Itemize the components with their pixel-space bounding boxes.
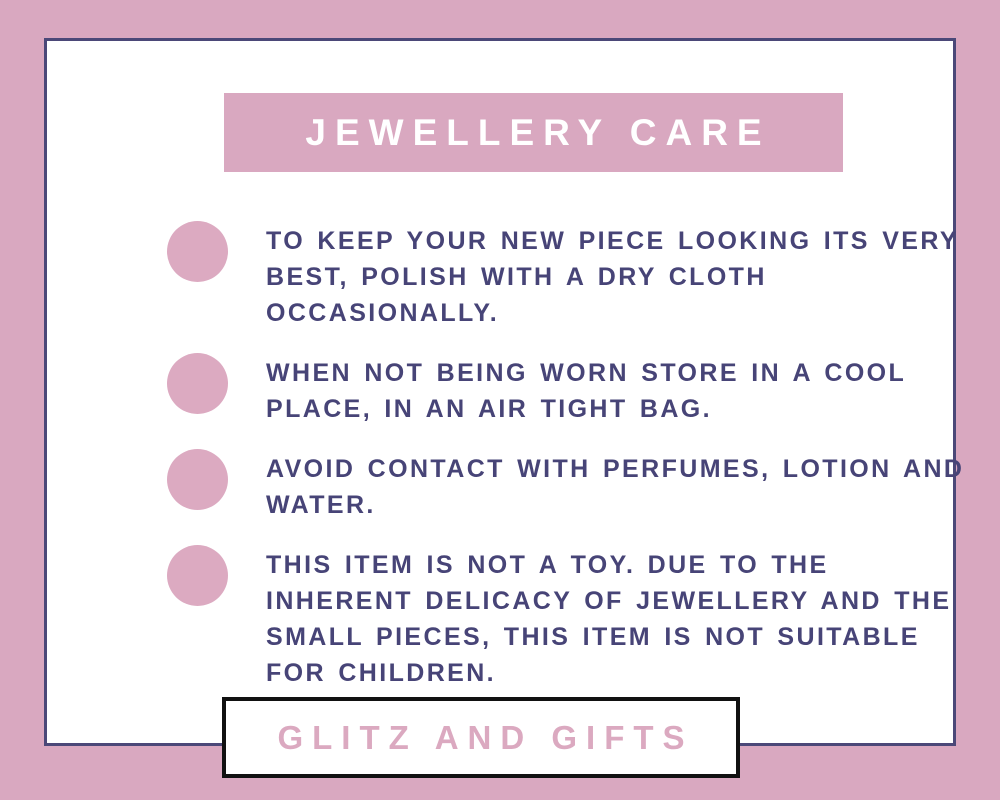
care-tip-text: THIS ITEM IS NOT A TOY. DUE TO THE INHER… [266,541,977,691]
care-tips-list: TO KEEP YOUR NEW PIECE LOOKING ITS VERY … [167,217,977,709]
page-title: JEWELLERY CARE [296,114,770,151]
card-frame: JEWELLERY CARE TO KEEP YOUR NEW PIECE LO… [44,38,956,746]
title-banner: JEWELLERY CARE [224,93,843,172]
care-tip-text: WHEN NOT BEING WORN STORE IN A COOL PLAC… [266,349,977,427]
bullet-dot-icon [167,353,228,414]
brand-name: GLITZ AND GIFTS [268,719,693,757]
care-tip-text: AVOID CONTACT WITH PERFUMES, LOTION AND … [266,445,977,523]
bullet-dot-icon [167,545,228,606]
list-item: TO KEEP YOUR NEW PIECE LOOKING ITS VERY … [167,217,977,331]
list-item: THIS ITEM IS NOT A TOY. DUE TO THE INHER… [167,541,977,691]
bullet-dot-icon [167,221,228,282]
care-tip-text: TO KEEP YOUR NEW PIECE LOOKING ITS VERY … [266,217,977,331]
bullet-dot-icon [167,449,228,510]
list-item: AVOID CONTACT WITH PERFUMES, LOTION AND … [167,445,977,523]
brand-footer-box: GLITZ AND GIFTS [222,697,740,778]
list-item: WHEN NOT BEING WORN STORE IN A COOL PLAC… [167,349,977,427]
